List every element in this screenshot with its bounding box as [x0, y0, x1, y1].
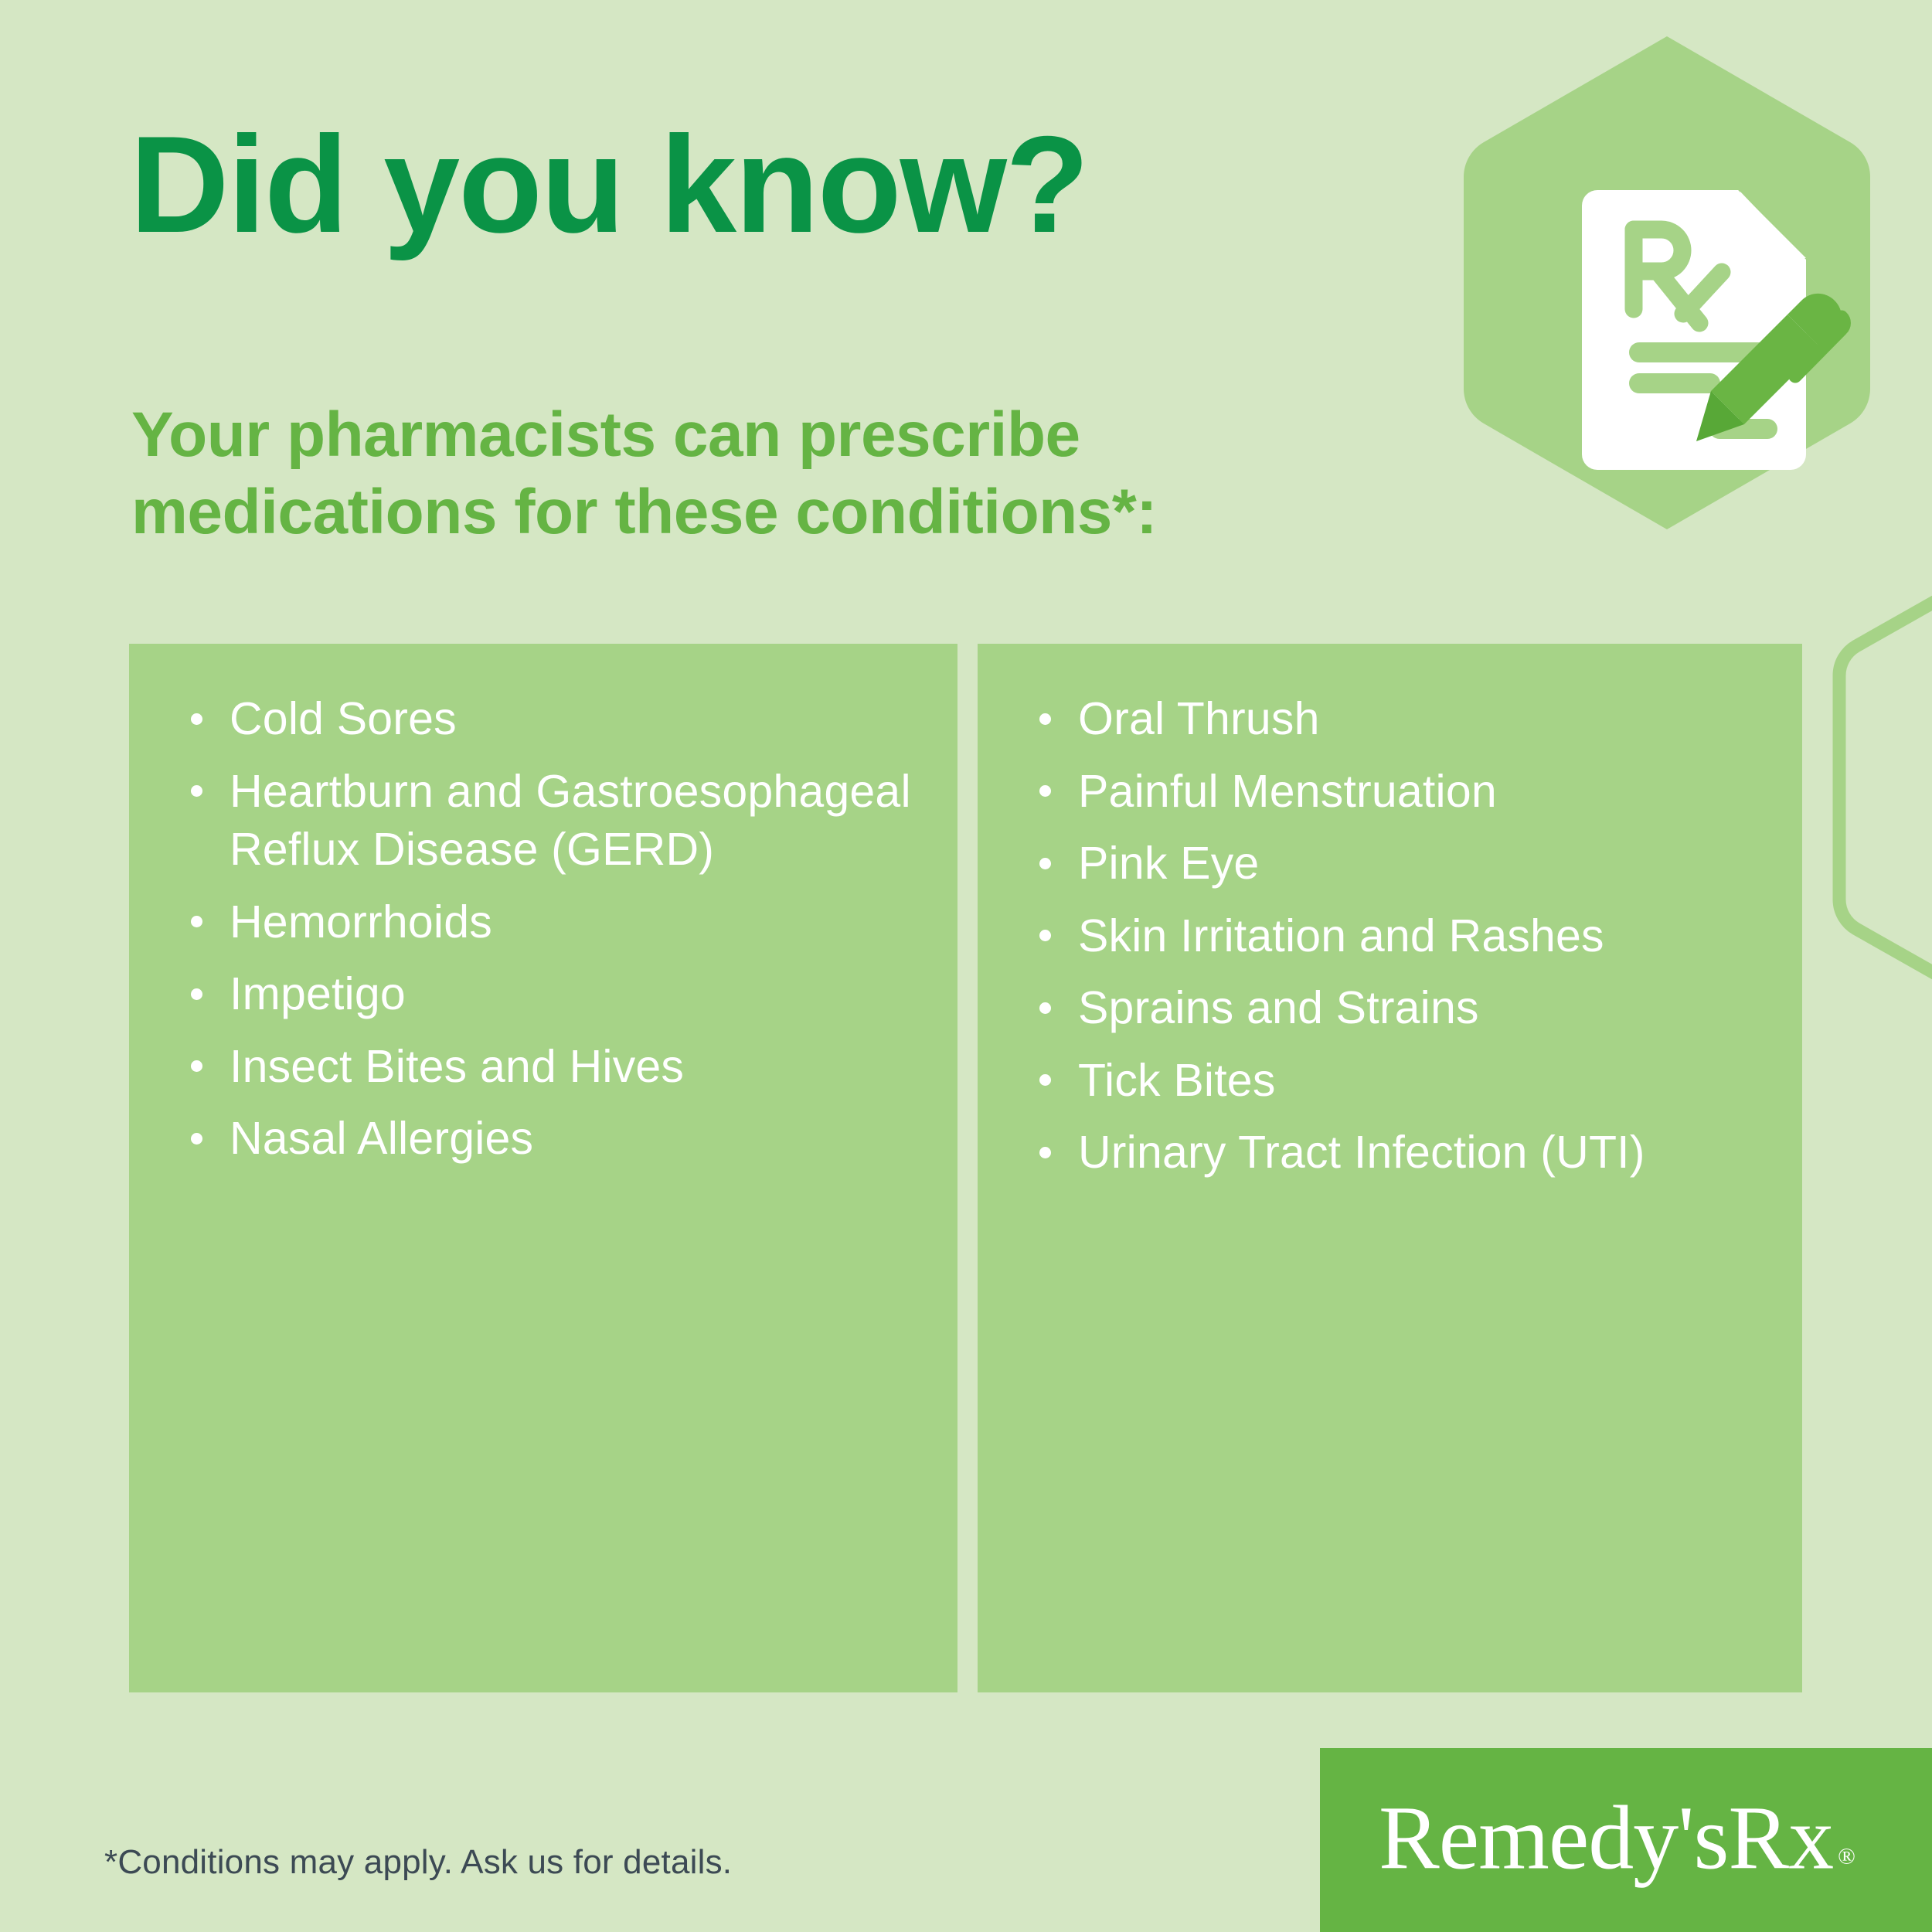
bullet-icon — [1039, 1002, 1051, 1014]
doc-line-2 — [1629, 373, 1720, 393]
doc-line-1 — [1629, 342, 1774, 362]
bullet-icon — [1039, 930, 1051, 941]
list-item: Skin Irritation and Rashes — [1033, 907, 1775, 966]
subtitle-line-1: Your pharmacists can prescribe — [131, 396, 1157, 474]
list-item: Tick Bites — [1033, 1052, 1775, 1111]
list-item: Impetigo — [185, 965, 927, 1024]
page-subtitle: Your pharmacists can prescribe medicatio… — [131, 396, 1157, 551]
list-item-label: Impetigo — [230, 968, 406, 1019]
poster-canvas: Did you know? Your pharmacists can presc… — [0, 0, 1932, 1932]
footnote-text: *Conditions may apply. Ask us for detail… — [104, 1843, 732, 1882]
list-item: Painful Menstruation — [1033, 763, 1775, 821]
registered-trademark-icon: ® — [1838, 1843, 1855, 1869]
list-item-label: Oral Thrush — [1078, 693, 1320, 744]
bullet-icon — [191, 916, 202, 927]
list-item-label: Skin Irritation and Rashes — [1078, 910, 1604, 961]
list-item: Sprains and Strains — [1033, 979, 1775, 1038]
conditions-panel-right: Oral Thrush Painful Menstruation Pink Ey… — [978, 644, 1802, 1692]
bullet-icon — [1039, 1147, 1051, 1158]
list-item-label: Heartburn and Gastroesophageal Reflux Di… — [230, 766, 911, 876]
bullet-icon — [1039, 713, 1051, 725]
bullet-icon — [191, 785, 202, 797]
list-item: Pink Eye — [1033, 835, 1775, 893]
list-item-label: Tick Bites — [1078, 1055, 1276, 1106]
list-item-label: Hemorrhoids — [230, 896, 492, 947]
list-item-label: Cold Sores — [230, 693, 457, 744]
list-item: Nasal Allergies — [185, 1110, 927, 1168]
list-item-label: Pink Eye — [1078, 838, 1259, 889]
list-item: Hemorrhoids — [185, 893, 927, 952]
brand-logo: Remedy'sRx® — [1320, 1748, 1932, 1932]
hexagon-badge — [1464, 36, 1870, 529]
page-title: Did you know? — [130, 114, 1088, 255]
conditions-list-right: Oral Thrush Painful Menstruation Pink Ey… — [1033, 690, 1775, 1196]
list-item: Urinary Tract Infection (UTI) — [1033, 1124, 1775, 1182]
list-item-label: Nasal Allergies — [230, 1113, 533, 1164]
bullet-icon — [191, 1133, 202, 1145]
bullet-icon — [191, 988, 202, 1000]
list-item-label: Urinary Tract Infection (UTI) — [1078, 1127, 1645, 1178]
brand-logo-text: Remedy'sRx® — [1379, 1785, 1855, 1890]
conditions-list-left: Cold Sores Heartburn and Gastroesophagea… — [185, 690, 927, 1182]
bullet-icon — [1039, 858, 1051, 869]
list-item: Cold Sores — [185, 690, 927, 749]
list-item-label: Insect Bites and Hives — [230, 1041, 684, 1092]
rx-symbol — [1634, 230, 1722, 323]
list-item: Oral Thrush — [1033, 690, 1775, 749]
bullet-icon — [1039, 785, 1051, 797]
decorative-hexagon-outline — [1839, 533, 1932, 1042]
bullet-icon — [191, 713, 202, 725]
list-item-label: Sprains and Strains — [1078, 982, 1479, 1033]
brand-name: Remedy'sRx — [1379, 1787, 1833, 1888]
list-item: Insect Bites and Hives — [185, 1038, 927, 1097]
bullet-icon — [1039, 1074, 1051, 1086]
list-item: Heartburn and Gastroesophageal Reflux Di… — [185, 763, 927, 879]
subtitle-line-2: medications for these conditions*: — [131, 474, 1157, 551]
doc-signature-line — [1709, 419, 1777, 439]
conditions-panel-left: Cold Sores Heartburn and Gastroesophagea… — [129, 644, 957, 1692]
pen-icon — [1696, 294, 1844, 441]
prescription-document-icon — [1582, 190, 1844, 470]
list-item-label: Painful Menstruation — [1078, 766, 1497, 817]
bullet-icon — [191, 1060, 202, 1072]
